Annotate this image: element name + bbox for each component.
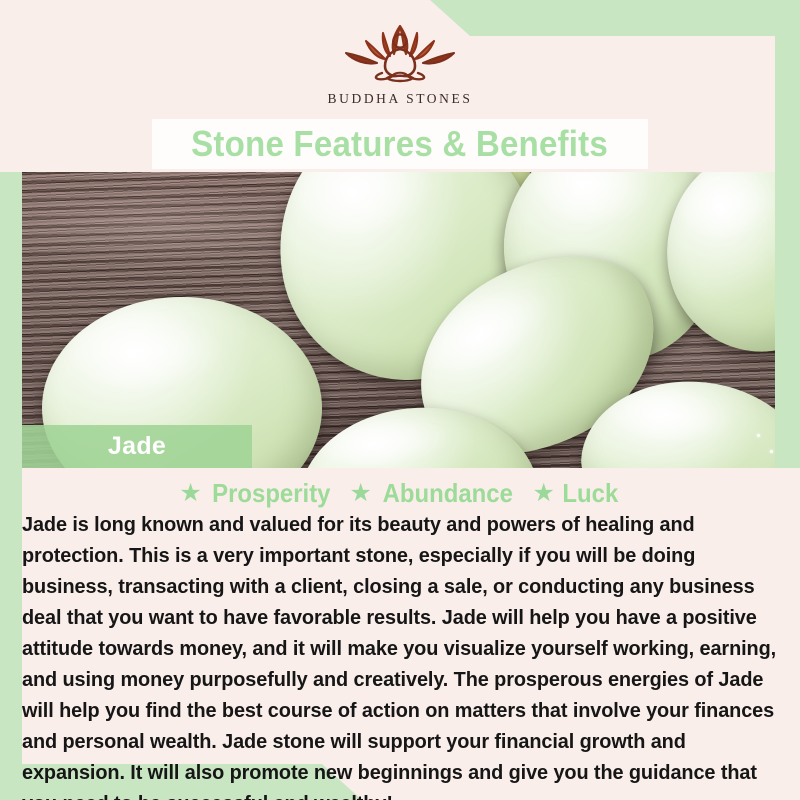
stone-description: Jade is long known and valued for its be… [22, 510, 780, 800]
benefit-item: ★ Prosperity [179, 478, 335, 509]
benefits-row: ★ Prosperity ★ Abundance ★ Luck [0, 478, 800, 509]
brand-logo: BUDDHA STONES [0, 20, 800, 107]
benefit-label: Luck [562, 478, 618, 509]
star-icon: ★ [349, 481, 371, 506]
stone-name-label: Jade [108, 432, 166, 461]
star-icon: ★ [532, 481, 554, 506]
brand-name: BUDDHA STONES [0, 91, 800, 107]
stone-name-badge: Jade [22, 425, 252, 468]
benefit-item: ★ Abundance [349, 478, 518, 509]
lotus-meditation-icon [0, 20, 800, 88]
benefit-label: Abundance [383, 478, 513, 509]
star-icon: ★ [179, 481, 201, 506]
benefit-label: Prosperity [212, 478, 330, 509]
stone-benefits-poster: BUDDHA STONES Stone Features & Benefits … [0, 0, 800, 800]
benefit-item: ★ Luck [532, 478, 620, 509]
sparkle-icon [757, 434, 760, 437]
sparkle-icon [770, 450, 773, 453]
page-title: Stone Features & Benefits [192, 123, 609, 165]
stone-photo [22, 172, 775, 468]
page-title-band: Stone Features & Benefits [152, 119, 648, 169]
